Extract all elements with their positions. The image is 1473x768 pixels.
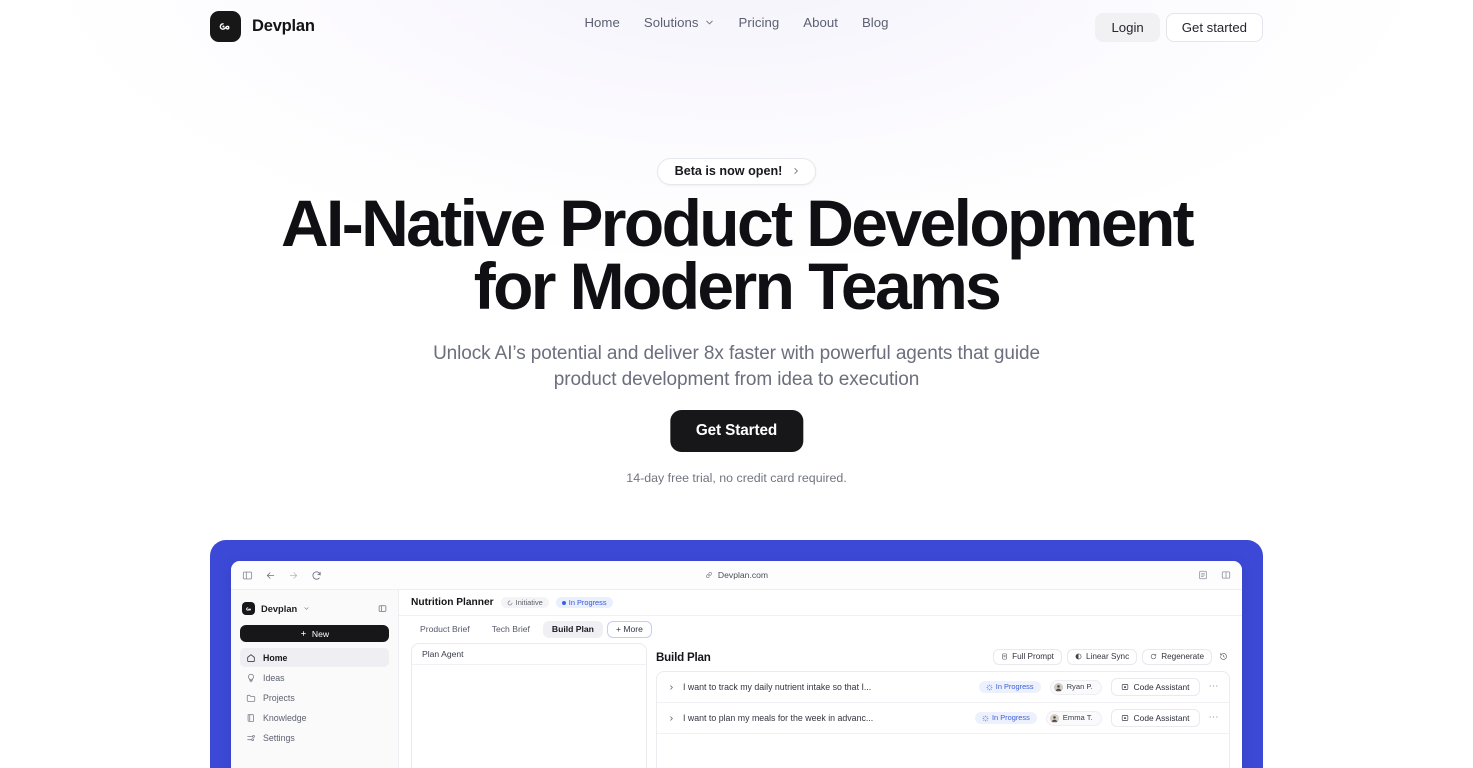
login-button[interactable]: Login bbox=[1095, 13, 1159, 42]
home-icon bbox=[246, 653, 256, 663]
ellipsis-icon[interactable]: ⋯ bbox=[1209, 713, 1220, 723]
book-icon bbox=[246, 713, 256, 723]
panel-left-icon[interactable] bbox=[242, 570, 253, 581]
reload-icon[interactable] bbox=[311, 570, 322, 581]
new-button[interactable]: New bbox=[240, 625, 389, 642]
link-icon bbox=[705, 571, 713, 579]
app-content: Plan Agent Build Plan bbox=[399, 643, 1242, 768]
nav-link-about[interactable]: About bbox=[803, 16, 838, 29]
nav-link-pricing-label: Pricing bbox=[739, 16, 780, 29]
infinity-logo-icon bbox=[242, 602, 255, 615]
status-badge-in-progress: In Progress bbox=[556, 597, 613, 608]
sidebar-item-settings[interactable]: Settings bbox=[240, 728, 389, 747]
code-assistant-label: Code Assistant bbox=[1134, 714, 1190, 722]
tab-more-button[interactable]: + More bbox=[607, 621, 652, 638]
plan-row-status-label: In Progress bbox=[996, 683, 1034, 690]
sidebar-item-home-label: Home bbox=[263, 653, 287, 663]
build-plan-title: Build Plan bbox=[656, 651, 711, 664]
status-badge-initiative: Initiative bbox=[501, 597, 549, 608]
avatar bbox=[1054, 683, 1063, 692]
reader-view-icon[interactable] bbox=[1198, 570, 1208, 580]
build-plan-actions: Full Prompt bbox=[993, 649, 1230, 665]
history-icon[interactable] bbox=[1217, 649, 1230, 664]
page-title: AI-Native Product Development for Modern… bbox=[187, 192, 1287, 317]
plus-icon bbox=[300, 630, 307, 637]
nav-link-solutions[interactable]: Solutions bbox=[644, 16, 715, 29]
browser-mockup: Devplan.com bbox=[231, 561, 1242, 768]
nav-link-blog[interactable]: Blog bbox=[862, 16, 889, 29]
regenerate-button[interactable]: Regenerate bbox=[1142, 649, 1212, 665]
app-sidebar: Devplan bbox=[231, 590, 399, 768]
split-view-icon[interactable] bbox=[1221, 570, 1231, 580]
browser-toolbar: Devplan.com bbox=[231, 561, 1242, 590]
regenerate-label: Regenerate bbox=[1161, 653, 1204, 661]
project-title: Nutrition Planner bbox=[411, 597, 494, 608]
nav-link-home-label: Home bbox=[584, 16, 619, 29]
ellipsis-icon[interactable]: ⋯ bbox=[1209, 682, 1220, 692]
status-badge-initiative-label: Initiative bbox=[516, 599, 543, 606]
refresh-icon bbox=[1150, 653, 1157, 660]
linear-sync-label: Linear Sync bbox=[1086, 653, 1129, 661]
assignee-chip[interactable]: Emma T. bbox=[1046, 711, 1102, 726]
chevron-right-icon[interactable] bbox=[667, 684, 675, 691]
chevron-down-icon bbox=[303, 605, 310, 612]
tab-tech-brief[interactable]: Tech Brief bbox=[483, 621, 539, 638]
avatar bbox=[1050, 714, 1059, 723]
sidebar-item-settings-label: Settings bbox=[263, 733, 295, 743]
plan-agent-title: Plan Agent bbox=[412, 644, 646, 665]
arrow-left-icon[interactable] bbox=[265, 570, 276, 581]
initiative-icon bbox=[507, 600, 513, 606]
project-header: Nutrition Planner Initiative In Pro bbox=[399, 590, 1242, 616]
assignee-name: Emma T. bbox=[1063, 714, 1093, 722]
code-assistant-button[interactable]: Code Assistant bbox=[1111, 709, 1200, 726]
top-navigation: Devplan Home Solutions Pricing About bbox=[0, 0, 1473, 56]
full-prompt-label: Full Prompt bbox=[1012, 653, 1054, 661]
plan-row-text: I want to plan my meals for the week in … bbox=[683, 713, 873, 723]
terminal-icon bbox=[1121, 714, 1129, 722]
sliders-icon bbox=[246, 733, 256, 743]
sidebar-item-projects-label: Projects bbox=[263, 693, 295, 703]
table-row[interactable]: I want to track my daily nutrient intake… bbox=[657, 672, 1229, 703]
lightbulb-icon bbox=[246, 673, 256, 683]
trial-fine-print: 14-day free trial, no credit card requir… bbox=[626, 471, 846, 485]
nav-link-solutions-label: Solutions bbox=[644, 16, 699, 29]
full-prompt-button[interactable]: Full Prompt bbox=[993, 649, 1062, 665]
build-plan-header: Build Plan bbox=[656, 643, 1230, 671]
get-started-cta-button[interactable]: Get Started bbox=[670, 410, 803, 452]
headline-line-2: for Modern Teams bbox=[474, 249, 1000, 323]
get-started-nav-button[interactable]: Get started bbox=[1166, 13, 1263, 42]
status-badge-in-progress-label: In Progress bbox=[569, 599, 607, 606]
sidebar-item-knowledge-label: Knowledge bbox=[263, 713, 307, 723]
spinner-icon bbox=[986, 684, 993, 691]
hero-subheadline: Unlock AI’s potential and deliver 8x fas… bbox=[417, 341, 1057, 393]
browser-url-text: Devplan.com bbox=[718, 570, 768, 580]
assignee-chip[interactable]: Ryan P. bbox=[1050, 680, 1102, 695]
linear-sync-button[interactable]: Linear Sync bbox=[1067, 649, 1137, 665]
build-plan-list: I want to track my daily nutrient intake… bbox=[656, 671, 1230, 768]
workspace-switcher[interactable]: Devplan bbox=[240, 598, 389, 617]
new-button-label: New bbox=[312, 629, 329, 639]
code-assistant-label: Code Assistant bbox=[1134, 683, 1190, 691]
arrow-right-icon[interactable] bbox=[288, 570, 299, 581]
tab-product-brief[interactable]: Product Brief bbox=[411, 621, 479, 638]
panel-toggle-icon[interactable] bbox=[378, 604, 387, 613]
nav-actions: Login Get started bbox=[1095, 13, 1263, 42]
dot-icon bbox=[562, 601, 566, 605]
plan-row-text: I want to track my daily nutrient intake… bbox=[683, 682, 871, 692]
chevron-right-icon[interactable] bbox=[667, 715, 675, 722]
terminal-icon bbox=[1121, 683, 1129, 691]
workspace-name: Devplan bbox=[261, 604, 297, 614]
status-badge-in-progress: In Progress bbox=[975, 712, 1037, 724]
chevron-right-icon bbox=[791, 166, 801, 176]
assignee-name: Ryan P. bbox=[1067, 683, 1093, 691]
beta-announcement-label: Beta is now open! bbox=[675, 165, 783, 178]
plan-row-status-label: In Progress bbox=[992, 714, 1030, 721]
beta-announcement-badge[interactable]: Beta is now open! bbox=[657, 158, 817, 185]
document-tabs: Product Brief Tech Brief Build Plan + Mo… bbox=[399, 616, 1242, 643]
build-plan-pane: Build Plan bbox=[656, 643, 1230, 768]
sidebar-item-ideas-label: Ideas bbox=[263, 673, 285, 683]
folder-icon bbox=[246, 693, 256, 703]
nav-link-about-label: About bbox=[803, 16, 838, 29]
moon-icon bbox=[1075, 653, 1082, 660]
status-badge-in-progress: In Progress bbox=[979, 681, 1041, 693]
landing-page: Devplan Home Solutions Pricing About bbox=[0, 0, 1473, 768]
plan-agent-body bbox=[412, 665, 646, 768]
sidebar-item-home[interactable]: Home bbox=[240, 648, 389, 667]
app-main: Nutrition Planner Initiative In Pro bbox=[399, 590, 1242, 768]
table-row[interactable]: I want to plan my meals for the week in … bbox=[657, 703, 1229, 734]
nav-link-pricing[interactable]: Pricing bbox=[739, 16, 780, 29]
sidebar-item-knowledge[interactable]: Knowledge bbox=[240, 708, 389, 727]
sidebar-item-ideas[interactable]: Ideas bbox=[240, 668, 389, 687]
sidebar-item-projects[interactable]: Projects bbox=[240, 688, 389, 707]
spinner-icon bbox=[982, 715, 989, 722]
code-assistant-button[interactable]: Code Assistant bbox=[1111, 678, 1200, 695]
nav-link-blog-label: Blog bbox=[862, 16, 889, 29]
document-icon bbox=[1001, 653, 1008, 660]
plan-agent-panel: Plan Agent bbox=[411, 643, 647, 768]
product-screenshot-panel: Devplan.com bbox=[210, 540, 1263, 768]
sidebar-nav: Home Ideas bbox=[240, 648, 389, 747]
app-window: Devplan bbox=[231, 590, 1242, 768]
browser-url-bar[interactable]: Devplan.com bbox=[231, 561, 1242, 589]
chevron-down-icon bbox=[704, 17, 715, 28]
nav-link-home[interactable]: Home bbox=[584, 16, 619, 29]
tab-build-plan[interactable]: Build Plan bbox=[543, 621, 603, 638]
